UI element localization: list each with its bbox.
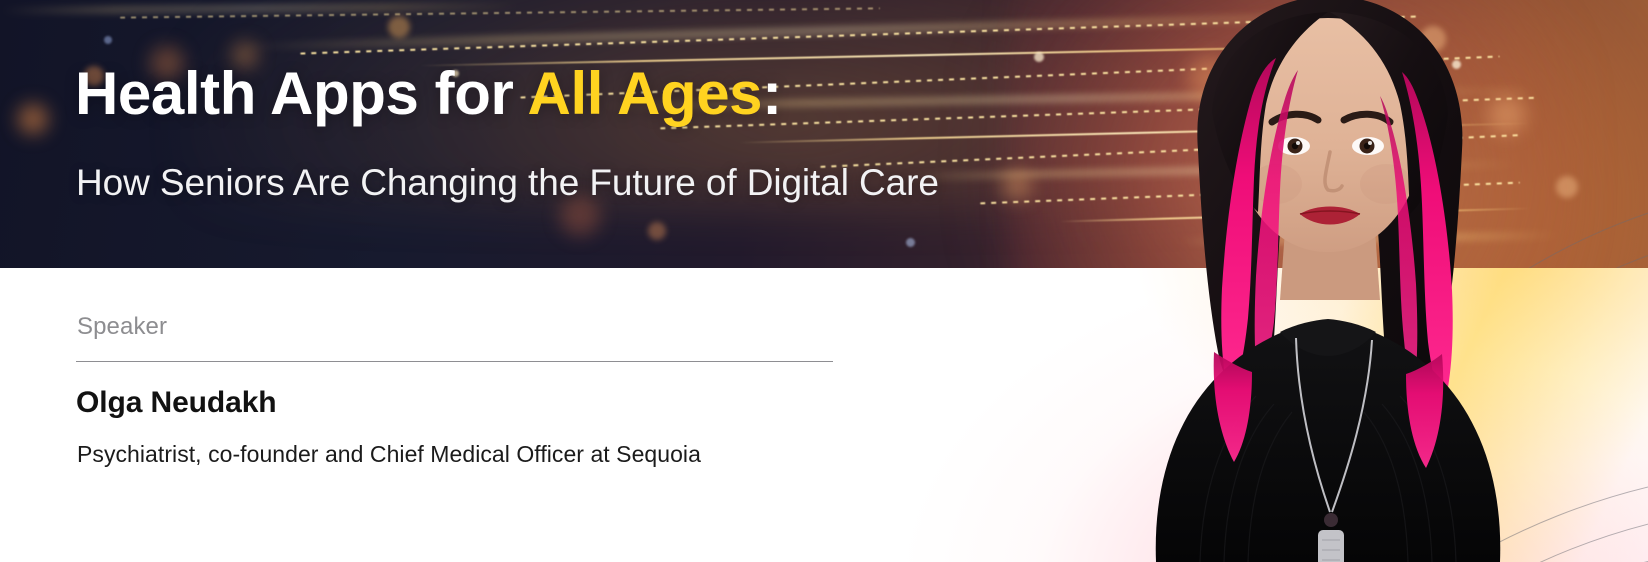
page-subtitle: How Seniors Are Changing the Future of D… <box>76 162 939 204</box>
webinar-banner: Health Apps for All Ages: How Seniors Ar… <box>0 0 1648 562</box>
title-highlight: All Ages <box>528 60 763 127</box>
speaker-portrait <box>1090 0 1570 562</box>
title-colon: : <box>762 60 782 127</box>
speaker-name: Olga Neudakh <box>76 386 277 420</box>
page-title: Health Apps for All Ages: <box>75 62 782 125</box>
title-lead: Health Apps for <box>75 60 528 127</box>
speaker-role: Psychiatrist, co-founder and Chief Medic… <box>77 441 701 468</box>
speaker-divider <box>76 361 833 362</box>
speaker-label: Speaker <box>77 313 167 341</box>
